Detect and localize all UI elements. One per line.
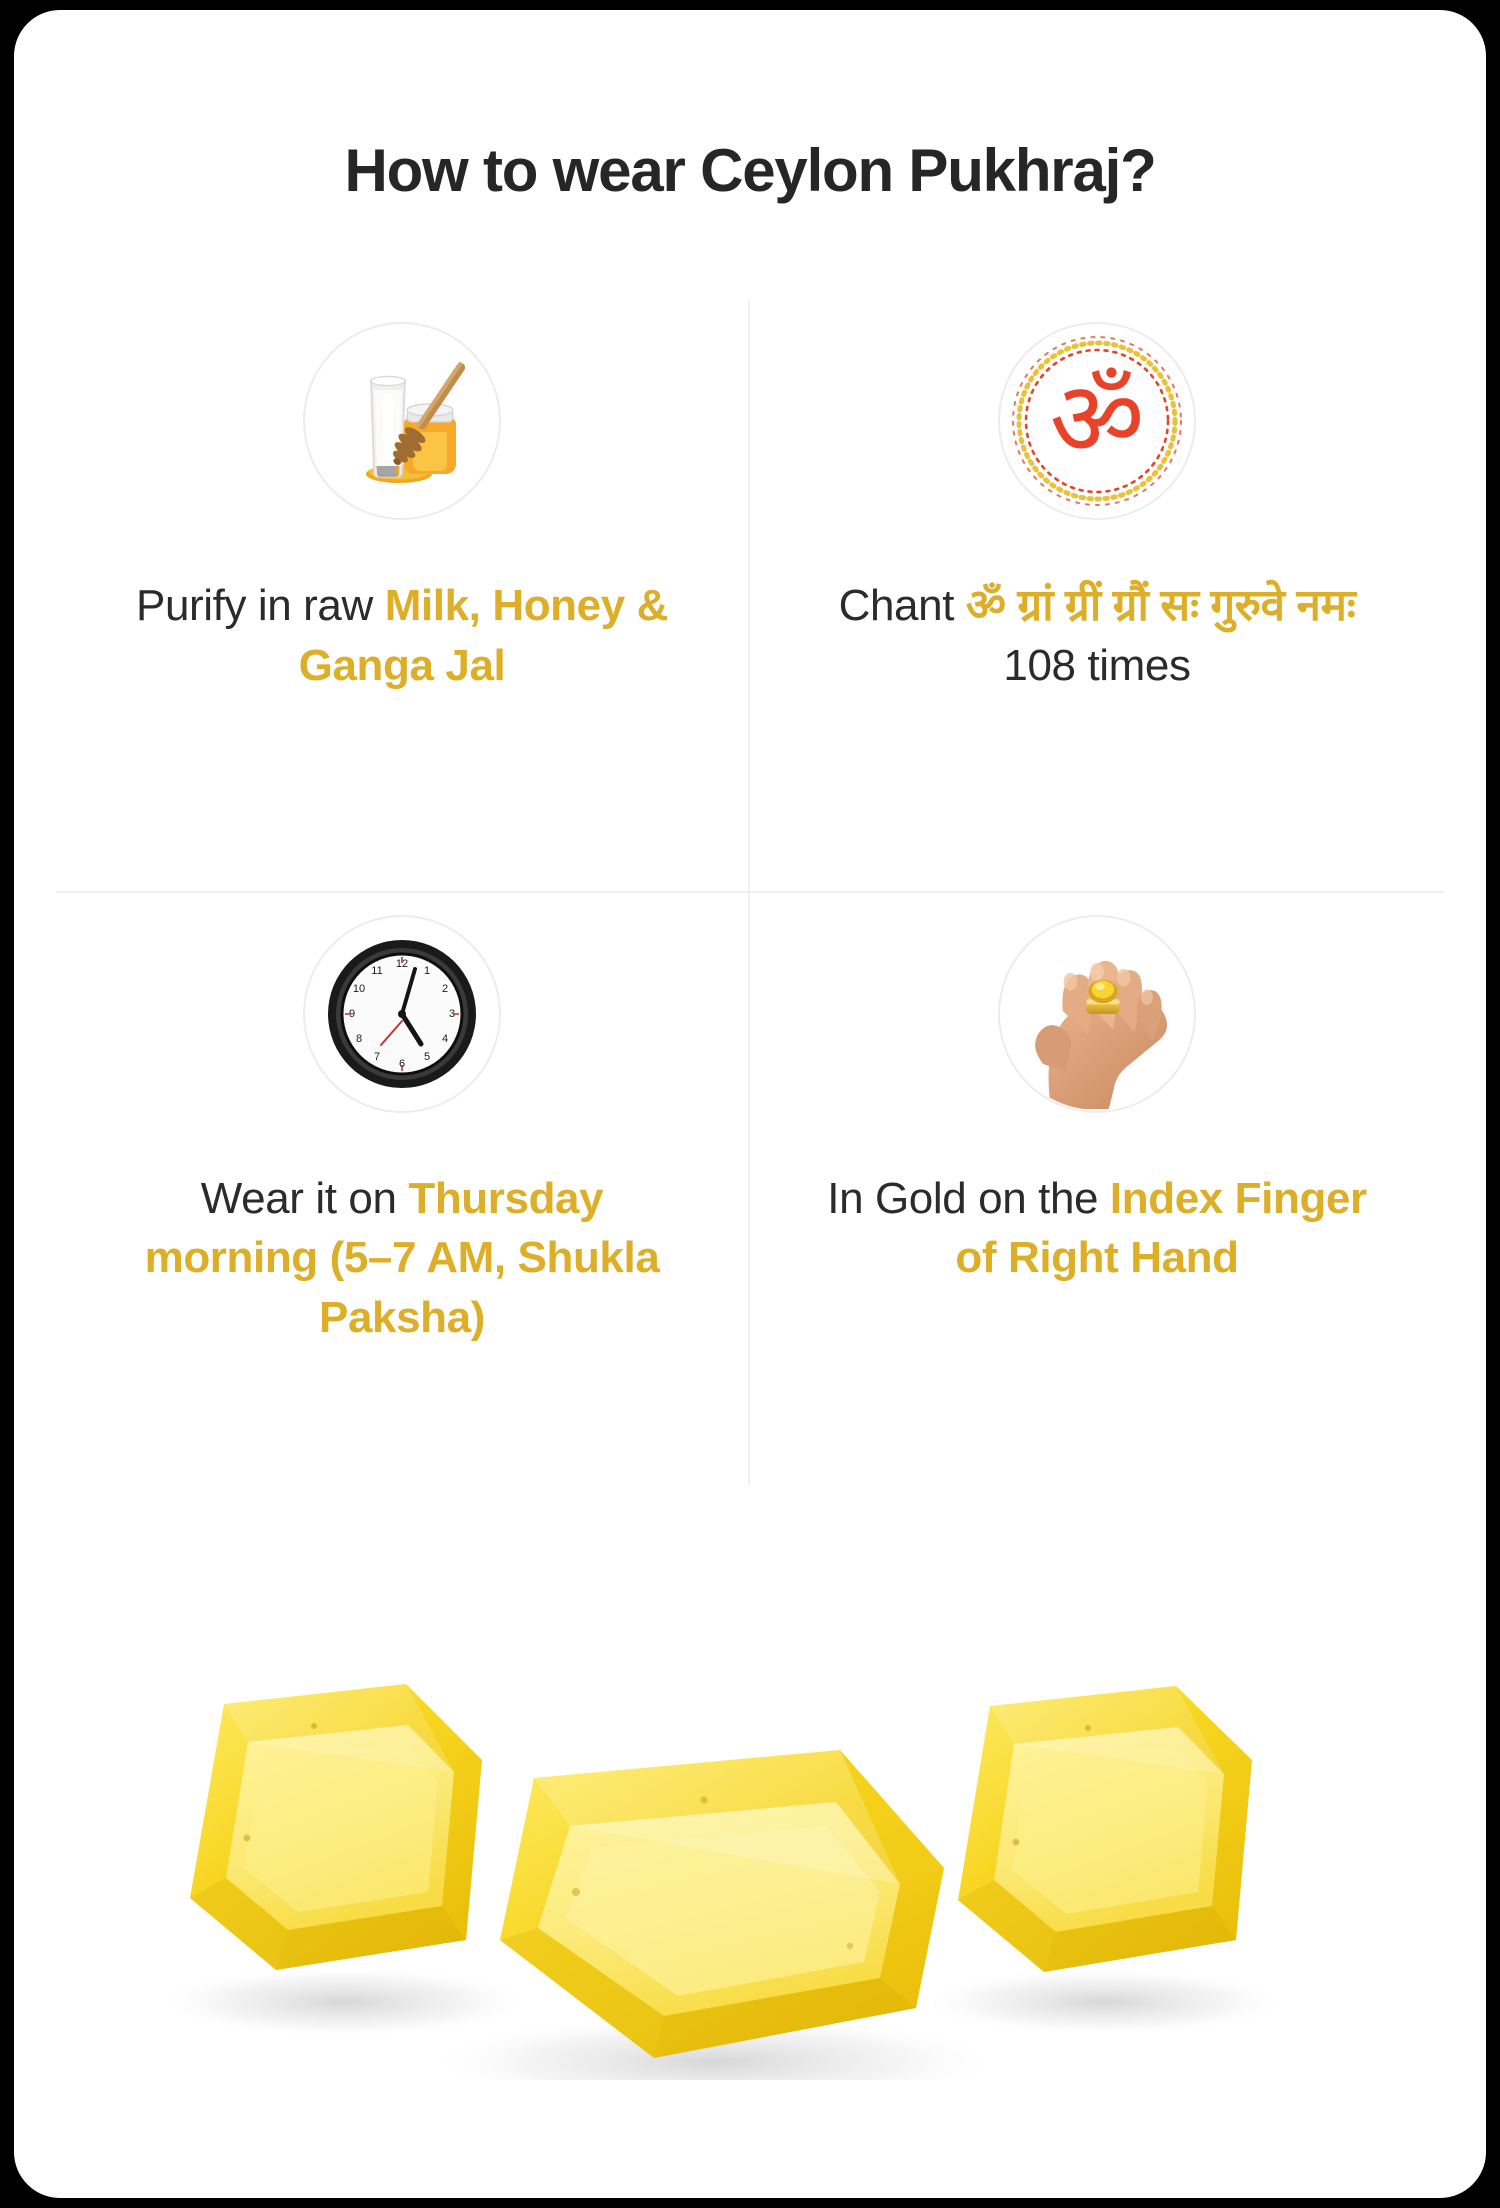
gemstone-right: [958, 1686, 1252, 1972]
milk-honey-icon: [303, 322, 501, 520]
step-timing-part-0: Wear it on: [201, 1174, 409, 1223]
step-chant-part-2: 108 times: [1003, 641, 1190, 690]
svg-text:5: 5: [424, 1050, 430, 1062]
step-purify-part-0: Purify in raw: [136, 581, 385, 630]
om-symbol-icon: ॐ: [998, 322, 1196, 520]
svg-text:2: 2: [442, 982, 448, 994]
step-timing: 12 1 2 3 4 5 6 7 8 9 10 11: [56, 893, 750, 1486]
hand-with-ring-icon: [998, 915, 1196, 1113]
step-timing-text: Wear it on Thursday morning (5–7 AM, Shu…: [112, 1169, 692, 1348]
svg-text:ॐ: ॐ: [1050, 362, 1145, 478]
gemstone-trio-image: [14, 1610, 1486, 2080]
svg-text:10: 10: [353, 982, 365, 994]
step-chant: ॐ Chant ॐ ग्रां ग्रीं ग्रौं सः गुरुवे नम…: [750, 300, 1444, 893]
step-metal-finger-part-0: In Gold on the: [827, 1174, 1110, 1223]
info-card: How to wear Ceylon Pukhraj?: [14, 10, 1486, 2198]
steps-grid: Purify in raw Milk, Honey & Ganga Jal ॐ …: [56, 300, 1444, 1485]
step-chant-text: Chant ॐ ग्रां ग्रीं ग्रौं सः गुरुवे नमः …: [817, 576, 1377, 696]
gemstone-left: [190, 1684, 482, 1970]
step-chant-part-1: ॐ ग्रां ग्रीं ग्रौं सः गुरुवे नमः: [966, 581, 1356, 630]
step-purify: Purify in raw Milk, Honey & Ganga Jal: [56, 300, 750, 893]
page-title: How to wear Ceylon Pukhraj?: [14, 138, 1486, 204]
step-metal-finger: In Gold on the Index Finger of Right Han…: [750, 893, 1444, 1486]
svg-text:11: 11: [371, 964, 382, 976]
step-purify-text: Purify in raw Milk, Honey & Ganga Jal: [112, 576, 692, 696]
step-metal-finger-text: In Gold on the Index Finger of Right Han…: [817, 1169, 1377, 1289]
svg-text:7: 7: [374, 1050, 380, 1062]
wall-clock-icon: 12 1 2 3 4 5 6 7 8 9 10 11: [303, 915, 501, 1113]
step-chant-part-0: Chant: [839, 581, 966, 630]
svg-text:1: 1: [424, 964, 430, 976]
svg-text:8: 8: [356, 1032, 362, 1044]
gemstone-center: [500, 1750, 944, 2058]
svg-text:4: 4: [442, 1032, 448, 1044]
